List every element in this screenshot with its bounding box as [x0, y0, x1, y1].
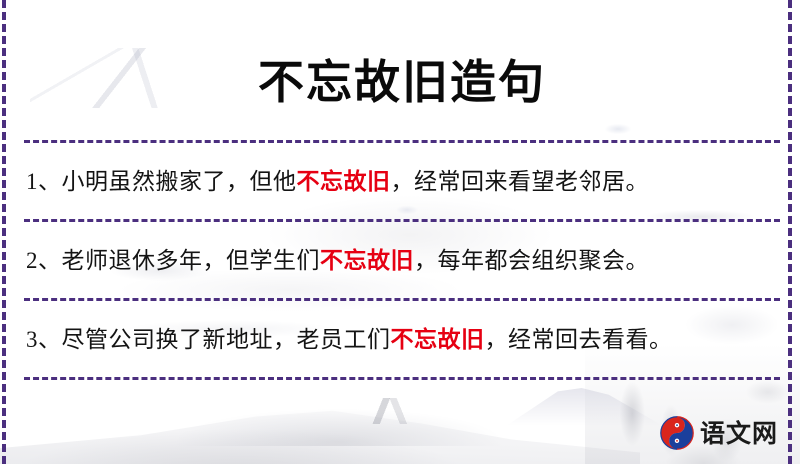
frame-rule-left: [2, 0, 6, 464]
sentence-text-before: 尽管公司换了新地址，老员工们: [62, 327, 391, 352]
sentence-text-before: 老师退休多年，但学生们: [62, 248, 321, 273]
sentence-text-after: ，经常回去看看。: [485, 327, 673, 352]
list-item: 2、老师退休多年，但学生们不忘故旧，每年都会组织聚会。: [22, 222, 782, 298]
watermark: 语文网: [660, 416, 778, 450]
keyword-highlight: 不忘故旧: [391, 326, 485, 353]
list-item: 1、小明虽然搬家了，但他不忘故旧，经常回来看望老邻居。: [22, 143, 782, 219]
sentence-text-before: 小明虽然搬家了，但他: [62, 169, 297, 194]
sentence-index: 3、: [26, 327, 62, 352]
yinyang-fish-logo-icon: [660, 416, 694, 450]
sentence-card-page: 不忘故旧造句 1、小明虽然搬家了，但他不忘故旧，经常回来看望老邻居。 2、老师退…: [0, 0, 800, 464]
sentence-text-after: ，每年都会组织聚会。: [414, 248, 649, 273]
frame-rule-right: [788, 0, 792, 464]
divider-below-3: [24, 377, 780, 380]
keyword-highlight: 不忘故旧: [320, 247, 414, 274]
keyword-highlight: 不忘故旧: [297, 168, 391, 195]
sentence-index: 1、: [26, 169, 62, 194]
sentence-index: 2、: [26, 248, 62, 273]
watermark-label: 语文网: [700, 421, 778, 446]
sentence-text-after: ，经常回来看望老邻居。: [391, 169, 650, 194]
page-title: 不忘故旧造句: [22, 31, 782, 109]
sentence-list: 1、小明虽然搬家了，但他不忘故旧，经常回来看望老邻居。 2、老师退休多年，但学生…: [22, 143, 782, 380]
list-item: 3、尽管公司换了新地址，老员工们不忘故旧，经常回去看看。: [22, 301, 782, 377]
card-content: 不忘故旧造句 1、小明虽然搬家了，但他不忘故旧，经常回来看望老邻居。 2、老师退…: [0, 31, 800, 464]
